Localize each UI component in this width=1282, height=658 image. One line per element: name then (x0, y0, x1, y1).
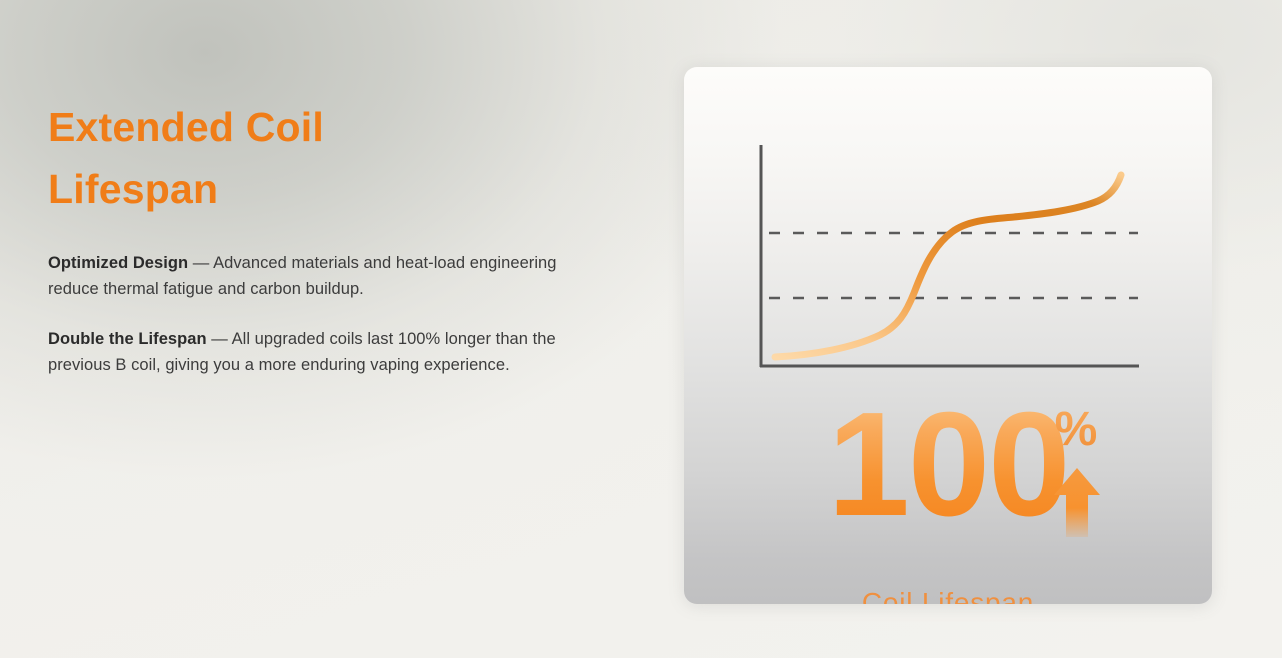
feature-text-column: Extended Coil Lifespan Optimized Design … (48, 96, 608, 402)
stat-unit: % (1055, 403, 1098, 456)
stat-block: 100 % Coil Lifespan (684, 397, 1212, 604)
chart-growth-curve (775, 175, 1121, 357)
paragraph-separator: — (188, 254, 213, 272)
coil-lifespan-chart (684, 67, 1212, 397)
coil-lifespan-card: 100 % Coil Lifespan (684, 67, 1212, 604)
page-title: Extended Coil Lifespan (48, 96, 608, 220)
stat-caption: Coil Lifespan (684, 587, 1212, 604)
stat-figure: 100 % (684, 397, 1212, 547)
stat-value: 100 (828, 397, 1069, 547)
paragraph-separator: — (207, 330, 232, 348)
paragraph-optimized-design: Optimized Design — Advanced materials an… (48, 250, 588, 302)
page-background: Extended Coil Lifespan Optimized Design … (0, 0, 1282, 658)
paragraph-lead-double-the-lifespan: Double the Lifespan (48, 330, 207, 348)
paragraph-lead-optimized-design: Optimized Design (48, 254, 188, 272)
paragraph-double-the-lifespan: Double the Lifespan — All upgraded coils… (48, 326, 588, 378)
